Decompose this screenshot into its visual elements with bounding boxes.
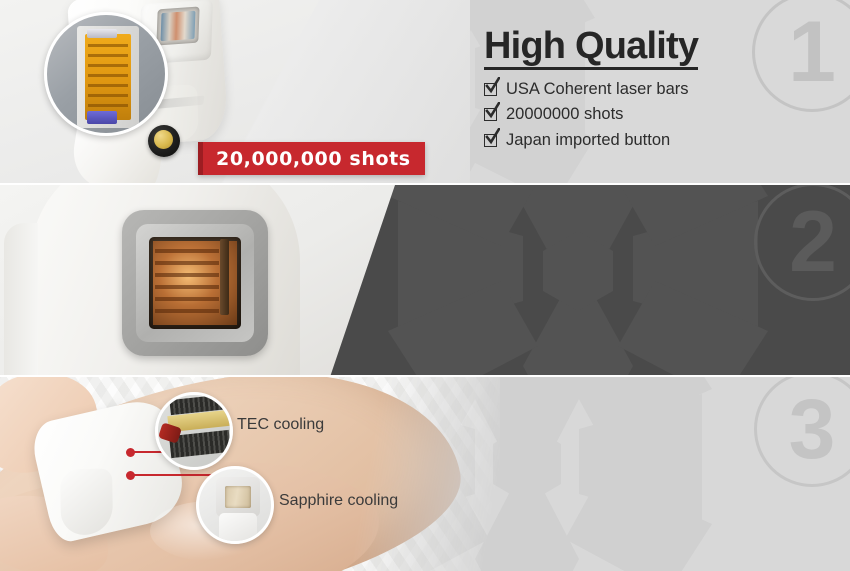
laser-bar [85, 34, 131, 120]
laser-bar-contact-top [87, 29, 117, 38]
laser-spot-macro-photo [0, 185, 470, 377]
bullet-label: USA Coherent laser bars [506, 81, 689, 98]
feature-infographic: 1 [0, 0, 850, 571]
sapphire-crystal-tip [216, 477, 260, 517]
divider-2 [0, 375, 850, 377]
checkbox-checked-icon [484, 107, 499, 122]
spot-metal-frame [122, 210, 268, 356]
spot-inner-frame [136, 224, 254, 342]
panel-good-result: 2 Good Result [0, 185, 850, 377]
bullet-label: 20000000 shots [506, 106, 623, 123]
laser-bar-slot [77, 26, 139, 128]
checkbox-checked-icon [484, 82, 499, 97]
bullet-label: Japan imported button [506, 132, 670, 149]
spot-rod [220, 239, 229, 315]
spot-window [149, 237, 241, 329]
divider-1 [0, 183, 850, 185]
handpiece-emitter-window [156, 6, 199, 45]
leader-dot-tec [126, 448, 135, 457]
handpiece-button [148, 125, 180, 157]
sapphire-tip-body [219, 513, 257, 544]
list-item: Japan imported button [484, 132, 698, 149]
panel-number-2-text: 2 [789, 199, 837, 285]
panel-high-quality: 1 [0, 0, 850, 185]
leader-dot-sapphire [126, 471, 135, 480]
laser-bar-zoom-inset [44, 12, 168, 136]
panel-number-3: 3 [754, 377, 850, 487]
callout-tec-cooling [155, 392, 233, 470]
list-item: 20000000 shots [484, 106, 698, 123]
panel-1-bullet-list: USA Coherent laser bars 20000000 shots [484, 81, 698, 149]
callout-sapphire-cooling [196, 466, 274, 544]
panel-number-1-text: 1 [788, 9, 836, 95]
shots-banner: 20,000,000 shots [198, 142, 425, 175]
panel-1-text-block: High Quality USA Coherent laser bars [484, 27, 698, 157]
laser-bar-contact-bottom [87, 111, 117, 124]
callout-label-sapphire: Sapphire cooling [279, 492, 398, 510]
checkbox-checked-icon [484, 133, 499, 148]
list-item: USA Coherent laser bars [484, 81, 698, 98]
panel-number-2: 2 [754, 185, 850, 301]
panel-number-1: 1 [752, 0, 850, 112]
panel-number-3-text: 3 [789, 387, 836, 471]
callout-label-tec: TEC cooling [237, 416, 324, 434]
shots-banner-text: 20,000,000 shots [216, 148, 411, 170]
panel-1-heading: High Quality [484, 27, 698, 70]
